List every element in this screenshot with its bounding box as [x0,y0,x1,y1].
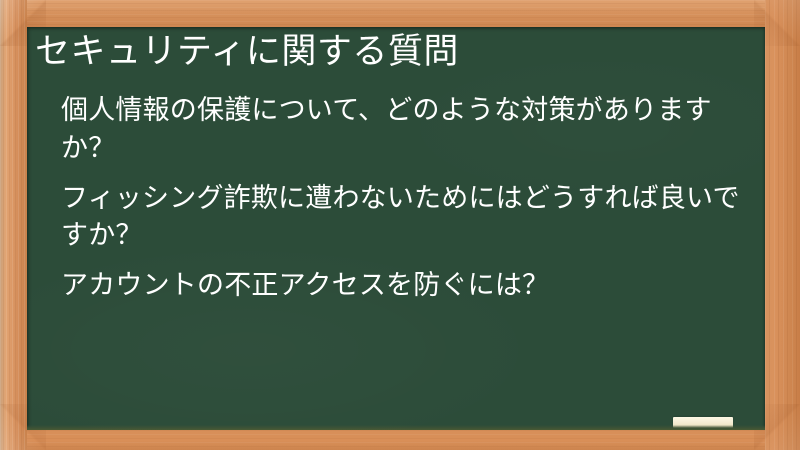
list-item: フィッシング詐欺に遭わないためにはどうすれば良いですか？ [61,180,747,255]
board-content: セキュリティに関する質問 個人情報の保護について、どのような対策がありますか？ … [27,27,765,430]
page-title: セキュリティに関する質問 [35,31,747,72]
question-list: 個人情報の保護について、どのような対策がありますか？ フィッシング詐欺に遭わない… [35,92,747,304]
chalk-icon [673,417,733,428]
list-item: 個人情報の保護について、どのような対策がありますか？ [61,92,747,167]
frame-rail-right [765,0,800,450]
chalkboard-surface: セキュリティに関する質問 個人情報の保護について、どのような対策がありますか？ … [27,27,765,430]
list-item: アカウントの不正アクセスを防ぐには？ [61,267,747,304]
frame-rail-top [0,0,800,30]
frame-rail-left [0,0,27,450]
chalkboard-slide: セキュリティに関する質問 個人情報の保護について、どのような対策がありますか？ … [0,0,800,450]
